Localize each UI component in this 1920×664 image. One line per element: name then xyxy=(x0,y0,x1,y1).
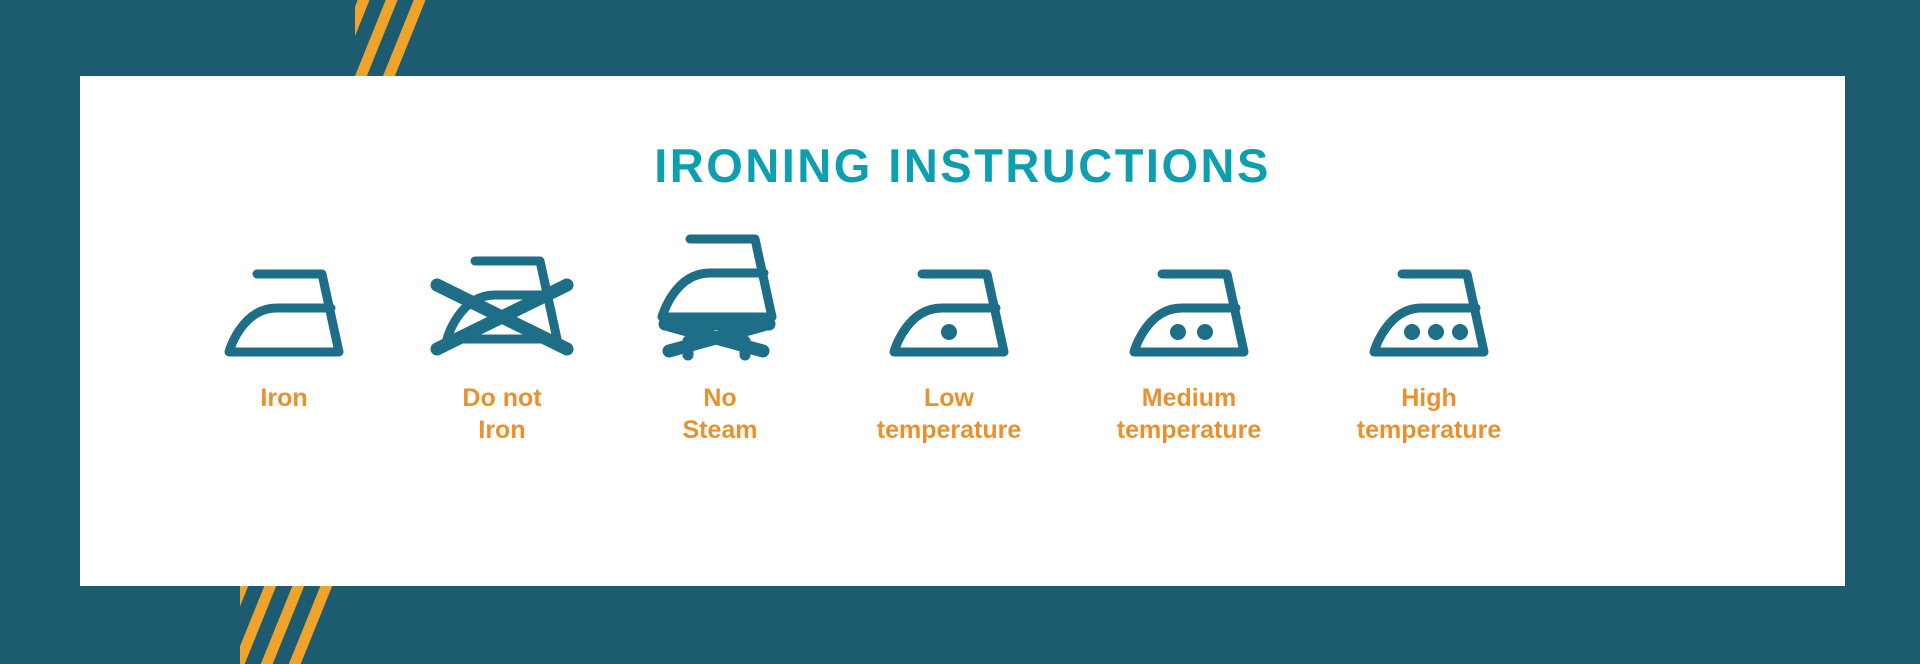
symbol-caption: No Steam xyxy=(682,383,757,446)
caption-line-2: temperature xyxy=(877,415,1022,447)
iron-two-dots-icon xyxy=(1124,241,1254,361)
caption-line-1: Do not xyxy=(462,383,541,415)
caption-line-1: No xyxy=(682,383,757,415)
symbol-item-no-steam: No Steam xyxy=(611,241,829,446)
symbol-caption: Do not Iron xyxy=(462,383,541,446)
caption-line-2: Iron xyxy=(462,415,541,447)
caption-line-1: Medium xyxy=(1117,383,1262,415)
decorative-stripes-bottom xyxy=(240,584,410,664)
caption-line-2: temperature xyxy=(1357,415,1502,447)
page-title: IRONING INSTRUCTIONS xyxy=(80,138,1845,193)
symbol-caption: Medium temperature xyxy=(1117,383,1262,446)
caption-line-1: High xyxy=(1357,383,1502,415)
do-not-iron-icon xyxy=(423,241,581,361)
caption-line-2: Steam xyxy=(682,415,757,447)
decorative-stripes-top xyxy=(355,0,515,78)
ironing-instructions-card: IRONING INSTRUCTIONS Iron xyxy=(80,76,1845,586)
stripe xyxy=(240,584,308,664)
iron-one-dot-icon xyxy=(884,241,1014,361)
stripe xyxy=(358,0,454,78)
stripe xyxy=(355,0,370,78)
stripe xyxy=(240,584,280,664)
caption-line-1: Low xyxy=(877,383,1022,415)
symbol-list: Iron Do not Iron xyxy=(80,241,1845,446)
symbol-caption: High temperature xyxy=(1357,383,1502,446)
caption-line-2: temperature xyxy=(1117,415,1262,447)
stripe xyxy=(355,0,398,78)
symbol-item-iron: Iron xyxy=(175,241,393,415)
symbol-item-do-not-iron: Do not Iron xyxy=(393,241,611,446)
symbol-item-low-temperature: Low temperature xyxy=(829,241,1069,446)
symbol-item-high-temperature: High temperature xyxy=(1309,241,1549,446)
symbol-item-medium-temperature: Medium temperature xyxy=(1069,241,1309,446)
stripe xyxy=(355,0,426,78)
stripe xyxy=(240,584,252,664)
symbol-caption: Low temperature xyxy=(877,383,1022,446)
symbol-caption: Iron xyxy=(260,383,307,415)
iron-icon xyxy=(219,241,349,361)
stripe xyxy=(240,584,336,664)
iron-three-dots-icon xyxy=(1364,241,1494,361)
no-steam-icon xyxy=(645,241,795,361)
caption-line-1: Iron xyxy=(260,383,307,415)
